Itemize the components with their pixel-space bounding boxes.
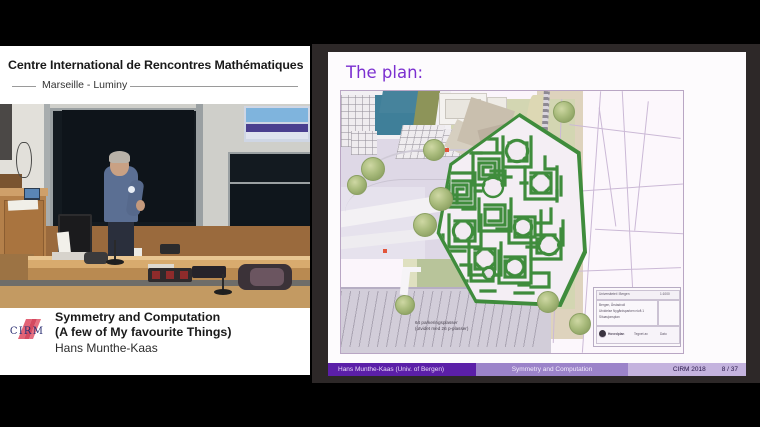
projection-screen-footer-bar (246, 124, 308, 132)
tree-5 (413, 213, 437, 237)
maze-paths (431, 117, 583, 303)
tree-9 (395, 295, 415, 315)
institute-header: Centre International de Rencontres Mathé… (0, 46, 310, 104)
site-plan-image: 64 parkeringsplasser (utvidet med 26 p-p… (340, 90, 684, 354)
tree-7 (537, 291, 559, 313)
title-block-row-scale (658, 300, 680, 326)
microphone-base-right (214, 289, 232, 295)
wall-wainscot (0, 226, 310, 260)
title-block-line5: Situasjonsplan (599, 315, 620, 319)
title-block-logo (599, 330, 606, 338)
tree-1 (361, 157, 385, 181)
tree-2 (347, 175, 367, 195)
footer-talk-title: Symmetry and Computation (476, 363, 628, 376)
lecture-hall-photo (0, 104, 310, 308)
screenshot-root: Centre International de Rencontres Mathé… (0, 0, 760, 427)
marker-red-1 (445, 148, 449, 152)
projection-screen-content (246, 108, 308, 122)
footer-author: Hans Munthe-Kaas (Univ. of Bergen) (328, 363, 476, 376)
cirm-logo: CIRM (4, 317, 50, 343)
speaker-badge (128, 186, 135, 193)
drawing-title-block: Universitetet i Bergen 1:1000 Bergen, År… (593, 287, 681, 347)
marker-red-2 (383, 249, 387, 253)
red-object-2 (166, 271, 174, 279)
hedge-maze (427, 113, 587, 307)
projection-screen-lower (246, 132, 308, 139)
tree-4 (429, 187, 453, 211)
title-block-line3: Bergen, Årstadvoll (599, 303, 625, 307)
talk-title-line1: Symmetry and Computation (55, 310, 220, 324)
red-object-1 (152, 271, 160, 279)
title-block-line1: Universitetet i Bergen (599, 292, 629, 296)
svg-text:CIRM: CIRM (10, 326, 44, 337)
parking-caption: 64 parkeringsplasser (utvidet med 26 p-p… (415, 320, 468, 332)
institute-name: Centre International de Rencontres Mathé… (8, 58, 303, 72)
small-monitor-screen (25, 189, 39, 198)
institute-location: Marseille - Luminy (42, 79, 127, 91)
title-block-line4: Utvidelse Nygårdsparken nivå 1 (599, 309, 644, 313)
entrance-path-head (403, 267, 421, 272)
jacket-highlight (250, 268, 284, 286)
parking-caption-line1: 64 parkeringsplasser (415, 320, 458, 325)
blackboard-right-lower (228, 182, 310, 228)
wall-left-shadow (0, 104, 12, 160)
tree-3 (423, 139, 445, 161)
bag-on-desk (84, 252, 108, 264)
tree-8 (569, 313, 591, 335)
slide-title: The plan: (346, 63, 423, 82)
red-object-3 (180, 271, 188, 279)
speaker-hand (136, 200, 145, 211)
speaker-hair (109, 151, 130, 163)
footer-right-group: CIRM 2018 8 / 37 (628, 363, 746, 376)
talk-speaker: Hans Munthe-Kaas (55, 341, 158, 355)
left-info-panel: Centre International de Rencontres Mathé… (0, 46, 310, 375)
blackboard-right-upper (228, 152, 310, 184)
title-block-line2: 1:1000 (660, 292, 670, 296)
title-block-line7: Tegnet av (634, 332, 648, 336)
tree-6 (553, 101, 575, 123)
title-block-line8: Dato (660, 332, 667, 336)
slide-footer-bar: Hans Munthe-Kaas (Univ. of Bergen) Symme… (328, 363, 746, 376)
dark-object-on-desk (192, 266, 226, 278)
talk-info-block: CIRM Symmetry and Computation (A few of … (0, 308, 310, 375)
divider-left (12, 86, 36, 87)
microphone-base-left (106, 259, 124, 265)
talk-title: Symmetry and Computation (A few of My fa… (55, 310, 231, 340)
wall-mullion-right (196, 104, 203, 226)
parking-caption-line2: (utvidet med 26 p-plasser) (415, 326, 468, 331)
papers-on-cabinet (8, 199, 38, 211)
divider-right (130, 86, 298, 87)
title-block-line6: Hovedplan (608, 332, 624, 336)
footer-venue: CIRM 2018 (673, 366, 706, 373)
talk-title-line2: (A few of My favourite Things) (55, 325, 231, 339)
paved-area-3 (351, 131, 377, 155)
site-plan-canvas: 64 parkeringsplasser (utvidet med 26 p-p… (341, 91, 683, 353)
hanging-cable (16, 142, 32, 178)
small-object-white (134, 248, 142, 256)
presentation-slide: The plan: (328, 52, 746, 376)
camera-on-desk (160, 244, 180, 254)
footer-page-number: 8 / 37 (722, 366, 738, 373)
institute-location-row: Marseille - Luminy (8, 79, 302, 93)
slide-frame: The plan: (312, 44, 760, 383)
